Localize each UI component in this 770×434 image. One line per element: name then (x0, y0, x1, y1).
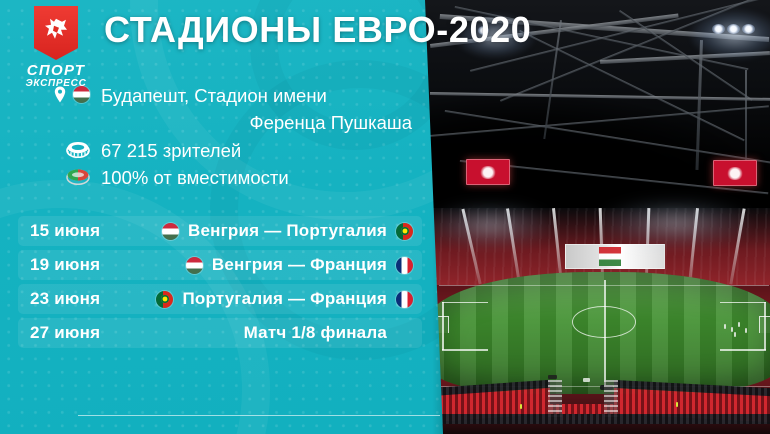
shield-icon (34, 6, 78, 60)
stadium-occupancy-value: 100% от вместимости (90, 166, 418, 190)
flag-hungary-icon (162, 223, 179, 240)
match-row[interactable]: 27 июня Матч 1/8 финала (18, 318, 422, 348)
match-row[interactable]: 19 июня Венгрия — Франция (18, 250, 422, 280)
flag-france-icon (396, 257, 413, 274)
football-pitch (428, 272, 770, 394)
flag-portugal-icon (396, 223, 413, 240)
logo-name-primary: СПОРТ (20, 63, 92, 78)
bottom-divider (78, 415, 440, 416)
flag-hungary-icon (73, 86, 90, 103)
stadium-info-block: Будапешт, Стадион имени Ференца Пушкаша … (28, 84, 418, 193)
flag-hungary-icon (186, 257, 203, 274)
sport-express-logo[interactable]: СПОРТ ЭКСПРЕСС (20, 6, 92, 91)
stadium-icon (66, 141, 90, 158)
match-date: 23 июня (30, 289, 122, 309)
athlete-figure-icon (43, 17, 69, 47)
match-date: 15 июня (30, 221, 122, 241)
match-teams: Португалия — Франция (182, 289, 387, 309)
flag-france-icon (396, 291, 413, 308)
stadium-screen-left (466, 159, 510, 185)
match-row[interactable]: 15 июня Венгрия — Португалия (18, 216, 422, 246)
stadium-screen-right (713, 160, 757, 186)
match-teams: Матч 1/8 финала (244, 323, 387, 343)
match-list: 15 июня Венгрия — Португалия 19 июня Вен… (18, 216, 422, 352)
stadium-location-line1: Будапешт, Стадион имени (90, 84, 418, 108)
match-date: 27 июня (30, 323, 122, 343)
match-teams: Венгрия — Португалия (188, 221, 387, 241)
stadium-location-row: Будапешт, Стадион имени (28, 84, 418, 108)
stadium-occupancy-row: 100% от вместимости (28, 166, 418, 190)
stadium-capacity-value: 67 215 зрителей (90, 139, 418, 163)
map-pin-icon (54, 86, 66, 103)
match-row[interactable]: 23 июня Португалия — Франция (18, 284, 422, 314)
page-title: СТАДИОНЫ ЕВРО-2020 (104, 9, 531, 51)
match-teams: Венгрия — Франция (212, 255, 387, 275)
match-date: 19 июня (30, 255, 122, 275)
stadium-location-line2: Ференца Пушкаша (28, 111, 418, 135)
flag-portugal-icon (156, 291, 173, 308)
stadium-capacity-row: 67 215 зрителей (28, 139, 418, 163)
stadium-occupancy-icon (66, 168, 90, 185)
infographic-root: СПОРТ ЭКСПРЕСС СТАДИОНЫ ЕВРО-2020 Будапе… (0, 0, 770, 434)
